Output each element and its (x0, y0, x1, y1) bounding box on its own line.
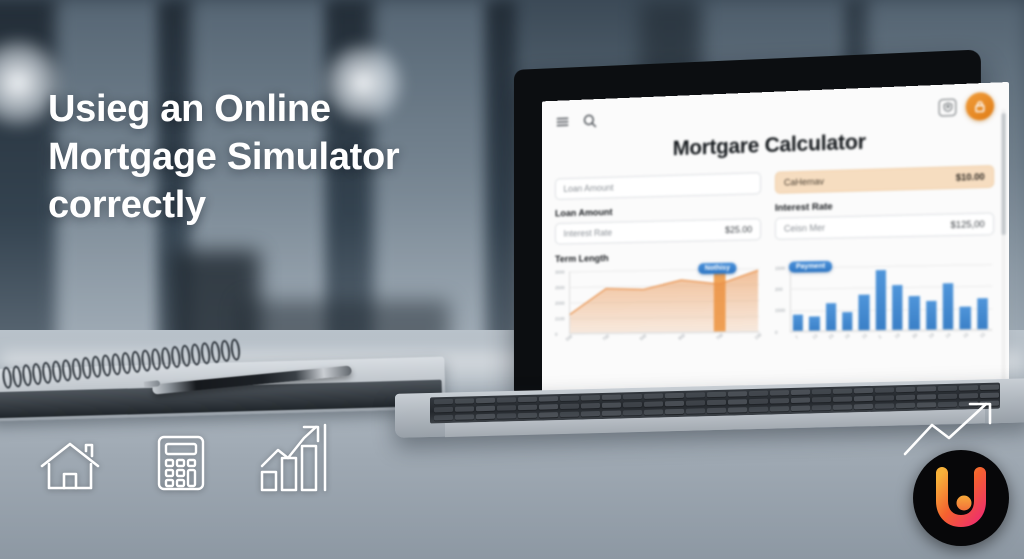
bar (926, 301, 937, 331)
chart-tooltip-badge[interactable]: Nothisy (698, 263, 737, 275)
interest-rate-label: Interest Rate (775, 197, 994, 214)
highlighted-field-placeholder: CaHemav (784, 176, 824, 187)
loan-amount-input[interactable]: Loan Amount (555, 172, 761, 200)
bar (859, 294, 869, 331)
laptop-screen: Mortgare Calculator Loan Amount Loan Amo… (542, 82, 1009, 392)
loan-amount-placeholder: Loan Amount (563, 183, 613, 194)
desk-icon-row (38, 420, 332, 492)
interest-rate-placeholder-right: Ceisn Mer (784, 223, 825, 234)
x-axis-tick: 16 (962, 332, 969, 339)
x-axis-tick: 15 (860, 333, 867, 340)
bar (809, 316, 819, 332)
calculator-icon (156, 434, 206, 492)
growth-chart-icon (260, 420, 332, 492)
laptop: Mortgare Calculator Loan Amount Loan Amo… (505, 60, 1005, 410)
bar (943, 283, 954, 331)
y-axis (569, 271, 570, 333)
bar (793, 315, 803, 332)
bar-chart-plot: 1500200150007132316152193019141615Paymen… (775, 260, 994, 344)
area-chart-plot: 30002500200021000 500700500900700100Noth… (555, 264, 761, 345)
loan-amount-label: Loan Amount (555, 203, 761, 219)
x-axis-tick: 23 (827, 333, 834, 340)
highlighted-field-value: $10.00 (956, 172, 985, 183)
interest-rate-input-left[interactable]: Interest Rate $25.00 (555, 218, 761, 244)
bar (826, 304, 836, 332)
x-axis-tick: 30 (911, 332, 918, 339)
y-axis-tick: 200 (775, 287, 783, 292)
y-axis-tick: 0 (775, 329, 778, 334)
x-axis-tick: 19 (894, 332, 901, 339)
y-axis-tick: 1500 (775, 308, 785, 313)
y-axis-tick: 1500 (775, 265, 785, 270)
x-axis-tick: 16 (844, 333, 851, 340)
interest-rate-value-right: $125,00 (951, 219, 985, 230)
form-fields: Loan Amount Loan Amount Interest Rate $2… (555, 165, 994, 244)
payment-chart: . 1500200150007132316152193019141615Paym… (775, 245, 994, 343)
x-axis-tick: 19 (928, 332, 935, 339)
x-axis-tick: 15 (979, 332, 986, 339)
bar (876, 270, 886, 331)
page-title: Mortgare Calculator (555, 126, 994, 165)
bar (977, 298, 988, 330)
chart-tooltip-badge[interactable]: Payment (789, 261, 832, 273)
bar (960, 306, 971, 330)
form-column-right: CaHemav $10.00 Interest Rate Ceisn Mer $… (775, 165, 994, 240)
form-column-left: Loan Amount Loan Amount Interest Rate $2… (555, 172, 761, 244)
interest-rate-value-left: $25.00 (725, 224, 752, 235)
page-headline: Usieg an Online Mortgage Simulator corre… (48, 85, 478, 229)
scrollbar-thumb[interactable] (1002, 113, 1006, 235)
bar (909, 296, 919, 331)
bar (842, 313, 852, 332)
y-axis (790, 268, 791, 332)
brand-logo[interactable] (913, 450, 1009, 546)
shield-badge-icon[interactable] (939, 98, 957, 116)
gridline (790, 286, 992, 290)
highlighted-field[interactable]: CaHemav $10.00 (775, 165, 994, 194)
x-axis-tick: 2 (877, 334, 882, 340)
lock-icon[interactable] (966, 91, 994, 120)
interest-rate-placeholder-left: Interest Rate (563, 228, 612, 239)
bar (892, 285, 902, 331)
interest-rate-input-right[interactable]: Ceisn Mer $125,00 (775, 212, 994, 239)
x-axis-tick: 7 (795, 335, 800, 340)
x-axis-tick: 13 (811, 333, 818, 340)
x-axis-tick: 14 (944, 332, 951, 339)
mortgage-calculator-app: Mortgare Calculator Loan Amount Loan Amo… (542, 82, 1009, 392)
charts-row: Term Length 30002500200021000 5007005009… (555, 245, 994, 345)
house-icon (38, 440, 102, 492)
hamburger-menu-icon[interactable] (555, 114, 570, 130)
term-length-chart: Term Length 30002500200021000 5007005009… (555, 250, 761, 345)
search-icon[interactable] (582, 113, 597, 129)
